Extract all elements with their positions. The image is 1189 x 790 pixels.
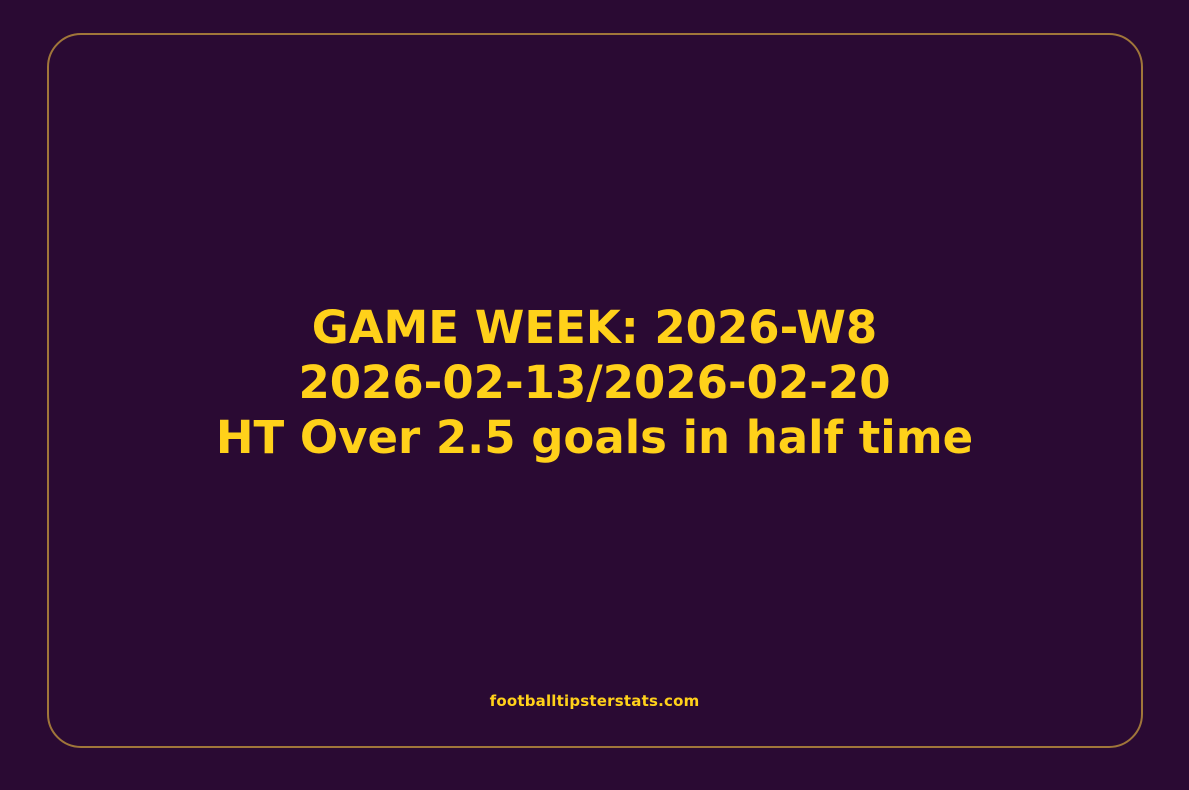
banner-root: GAME WEEK: 2026-W8 2026-02-13/2026-02-20…	[0, 0, 1189, 790]
headline-line-game-week: GAME WEEK: 2026-W8	[0, 300, 1189, 355]
headline-line-date-range: 2026-02-13/2026-02-20	[0, 355, 1189, 410]
headline-line-market: HT Over 2.5 goals in half time	[0, 410, 1189, 465]
headline-block: GAME WEEK: 2026-W8 2026-02-13/2026-02-20…	[0, 300, 1189, 465]
footer-site-name: footballtipsterstats.com	[0, 691, 1189, 711]
